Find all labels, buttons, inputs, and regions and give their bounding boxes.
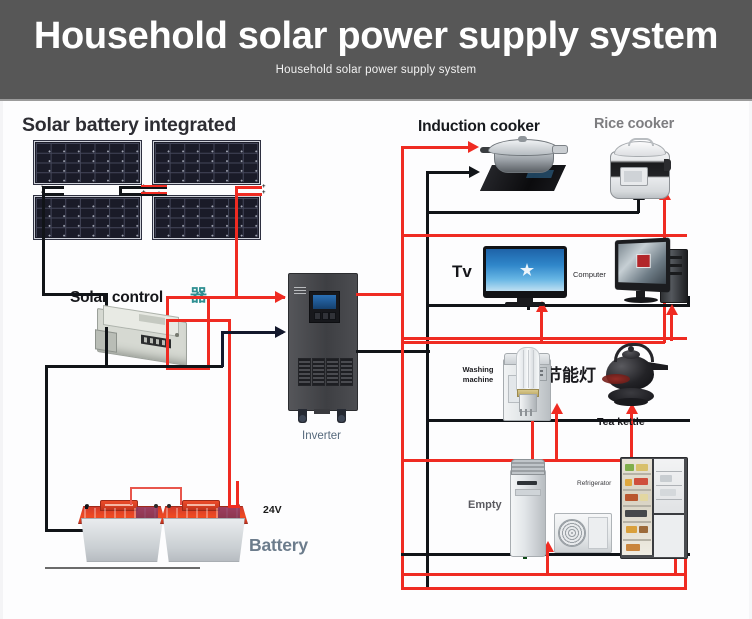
battery-terminal-positive bbox=[154, 504, 158, 508]
wire-panel-negative-to-controller bbox=[42, 293, 108, 296]
label-empty: Empty bbox=[468, 499, 502, 511]
floor-ac-air-outlet bbox=[511, 459, 545, 475]
fridge-interior-contents bbox=[660, 475, 672, 482]
floor-ac-vent bbox=[515, 489, 541, 496]
controller-indicator-led bbox=[175, 333, 179, 337]
battery-body bbox=[81, 518, 163, 562]
tv-stand-base bbox=[505, 302, 545, 306]
tea-kettle bbox=[592, 344, 670, 420]
inverter-caster bbox=[337, 409, 346, 423]
solar-system-diagram-page: Household solar power supply system Hous… bbox=[0, 0, 752, 619]
fridge-contents bbox=[640, 494, 648, 501]
wire-negative-bus-to-battery bbox=[45, 365, 48, 531]
fridge-contents bbox=[625, 494, 638, 501]
bus-live-vertical bbox=[401, 146, 404, 589]
television bbox=[483, 246, 567, 310]
solar-panel-top-right bbox=[152, 140, 261, 185]
battery-body bbox=[163, 518, 245, 562]
fridge-contents bbox=[625, 464, 634, 471]
fridge-contents bbox=[625, 479, 632, 486]
fridge-rack bbox=[656, 499, 682, 500]
page-header: Household solar power supply system Hous… bbox=[0, 0, 752, 101]
fridge-interior-contents bbox=[660, 489, 676, 496]
wire-row1-rice-neutral-run bbox=[426, 211, 639, 214]
battery-unit-1 bbox=[78, 496, 164, 560]
wire-controller-to-inverter-positive bbox=[207, 296, 285, 299]
condenser-side-panel bbox=[588, 517, 608, 549]
panel-cell-dots bbox=[36, 198, 139, 237]
label-voltage: 24V bbox=[263, 504, 282, 516]
wire-panel-tr-positive bbox=[236, 186, 262, 189]
diagram-canvas: Solar battery integrated Solar control 器… bbox=[0, 101, 752, 619]
arrow-live-lamp bbox=[551, 403, 563, 414]
wire-panel-positive-bus bbox=[235, 186, 238, 298]
fridge-shelf bbox=[623, 505, 651, 507]
inverter-vent bbox=[312, 358, 325, 386]
inverter-vent bbox=[326, 358, 339, 386]
tv-screen-graphic bbox=[519, 262, 535, 278]
kettle-lid-knob bbox=[628, 346, 634, 352]
tv-screen bbox=[486, 249, 564, 291]
computer bbox=[612, 239, 690, 313]
wire-negative-bus-jog bbox=[45, 365, 107, 368]
wire-negative-riser-to-inverter bbox=[221, 331, 224, 367]
inverter-lcd-display bbox=[313, 295, 336, 309]
induction-cooker bbox=[480, 139, 566, 195]
solar-panel-bottom-right bbox=[152, 195, 261, 240]
inverter-vent bbox=[340, 358, 353, 386]
refrigerator-freezer-drawer bbox=[654, 513, 684, 557]
label-induction-cooker: Induction cooker bbox=[418, 118, 540, 136]
rice-cooker bbox=[606, 137, 672, 199]
wire-battery-positive-riser bbox=[228, 319, 231, 519]
fridge-contents bbox=[626, 526, 637, 533]
inverter-vent bbox=[298, 358, 311, 386]
wire-panel-bl-negative bbox=[42, 193, 64, 196]
inverter-base bbox=[314, 409, 330, 414]
label-solar-battery-integrated: Solar battery integrated bbox=[22, 114, 236, 137]
panel-cell-dots bbox=[155, 198, 258, 237]
monitor-stand-base bbox=[624, 297, 658, 303]
rice-cooker-control-window bbox=[620, 167, 648, 186]
solar-panel-bottom-left bbox=[33, 195, 142, 240]
fridge-shelf bbox=[623, 521, 651, 523]
panel-cell-dots bbox=[155, 143, 258, 182]
fridge-rack bbox=[656, 485, 682, 486]
wire-battery-series-jumper bbox=[130, 487, 182, 489]
computer-screen bbox=[618, 242, 666, 284]
wire-condenser-live-riser bbox=[546, 551, 549, 575]
wire-inverter-output-neutral bbox=[356, 350, 430, 353]
wire-battery-positive-tie bbox=[166, 319, 230, 322]
wire-controller-negative-run bbox=[105, 365, 223, 368]
fridge-shelf bbox=[623, 539, 651, 541]
inverter-unit bbox=[288, 273, 356, 425]
wire-battery-jumper-left bbox=[130, 487, 132, 505]
wire-row1-rice-neutral-riser bbox=[637, 199, 640, 213]
kettle-decor-band bbox=[602, 374, 630, 384]
computer-monitor bbox=[615, 237, 670, 292]
floor-standing-air-conditioner bbox=[510, 459, 544, 555]
lamp-tube bbox=[516, 347, 540, 391]
wire-row2-live-top bbox=[401, 234, 687, 237]
rice-cooker-handle bbox=[628, 138, 654, 146]
label-solar-control: Solar control bbox=[70, 289, 163, 307]
fridge-shelf bbox=[623, 473, 651, 475]
wire-row3-live-top bbox=[401, 337, 687, 340]
refrigerator bbox=[620, 457, 686, 559]
wire-panel-br-positive bbox=[236, 193, 262, 196]
pot-lid-knob bbox=[518, 136, 527, 142]
wire-controller-out-positive bbox=[166, 322, 169, 368]
wire-lamp-live-riser bbox=[555, 413, 558, 461]
wire-controller-negative-drop bbox=[105, 327, 108, 367]
wire-controller-positive-riser bbox=[207, 296, 210, 370]
wire-series-jumper-lower bbox=[141, 192, 167, 194]
wire-series-jumper-upper bbox=[141, 185, 167, 187]
inverter-control-panel bbox=[309, 291, 340, 323]
bus-live-bottom-return bbox=[401, 587, 687, 590]
arrow-negative-into-inverter bbox=[275, 326, 286, 338]
wire-panel-tl-negative bbox=[42, 186, 64, 189]
wire-row4-live-run bbox=[401, 573, 687, 576]
arrow-neutral-induction-cooker bbox=[469, 166, 480, 178]
inverter-sticker bbox=[294, 287, 306, 294]
page-subtitle: Household solar power supply system bbox=[0, 64, 752, 76]
inverter-caster bbox=[298, 409, 307, 423]
inverter-buttons bbox=[314, 312, 335, 318]
wire-battery2-positive-tie bbox=[228, 505, 240, 508]
label-tea-kettle: Tea kettle bbox=[597, 416, 645, 428]
inverter-body bbox=[288, 273, 358, 411]
wire-panel-negative-bus bbox=[42, 186, 45, 296]
fridge-contents bbox=[636, 464, 648, 471]
rice-cooker-side-handle bbox=[664, 159, 671, 171]
ac-outdoor-condenser bbox=[554, 513, 610, 555]
floor-ac-display bbox=[517, 481, 537, 485]
arrow-live-induction-cooker bbox=[468, 141, 479, 153]
fridge-rack bbox=[656, 471, 682, 472]
fridge-contents bbox=[634, 478, 648, 485]
solar-panel-top-left bbox=[33, 140, 142, 185]
label-inverter: Inverter bbox=[302, 430, 341, 442]
wire-inverter-output-live bbox=[356, 293, 404, 296]
energy-saving-lamp bbox=[512, 347, 542, 419]
label-refrigerator: Refrigerator bbox=[577, 480, 611, 487]
wire-negative-to-inverter bbox=[221, 331, 283, 334]
fridge-contents bbox=[639, 526, 648, 533]
label-energy-saving-lamp: 节能灯 bbox=[545, 361, 596, 386]
label-battery: Battery bbox=[249, 535, 308, 556]
polarity-mark: + bbox=[262, 191, 266, 196]
pot-handle-right bbox=[552, 145, 568, 154]
fridge-contents bbox=[625, 510, 647, 517]
wire-battery-jumper-right bbox=[180, 487, 182, 505]
wire-battery1-negative-lead bbox=[85, 505, 88, 509]
wire-battery-bus-thin bbox=[45, 567, 200, 569]
battery-terminal-negative bbox=[167, 504, 171, 508]
label-washing-machine: Washing machine bbox=[452, 365, 504, 385]
condenser-fan-grille bbox=[558, 519, 586, 547]
label-tv: Tv bbox=[452, 262, 472, 282]
panel-cell-dots bbox=[36, 143, 139, 182]
arrow-positive-into-inverter bbox=[275, 291, 286, 303]
page-title: Household solar power supply system bbox=[0, 14, 752, 58]
canvas-left-edge bbox=[0, 101, 3, 619]
lamp-pins bbox=[520, 409, 534, 416]
label-computer: Computer bbox=[573, 270, 606, 279]
refrigerator-door-shelves bbox=[622, 459, 652, 555]
fridge-shelf bbox=[623, 489, 651, 491]
label-rice-cooker: Rice cooker bbox=[594, 116, 674, 132]
wire-row1-live bbox=[401, 146, 475, 149]
wire-battery2-positive-lead bbox=[236, 481, 239, 505]
kettle-heating-base bbox=[608, 388, 654, 404]
fridge-contents bbox=[626, 544, 640, 551]
